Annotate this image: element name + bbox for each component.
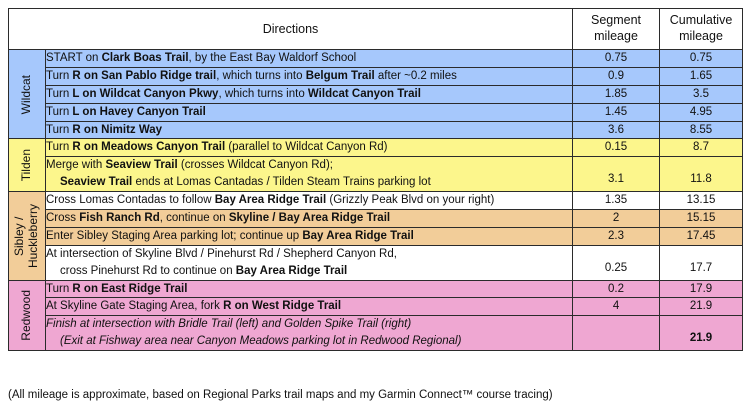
cumulative-mileage-value: 8.55	[690, 124, 712, 136]
direction-line: Merge with Seaview Trail (crosses Wildca…	[46, 157, 572, 174]
segment-mileage-cell: 1.85	[573, 85, 660, 103]
segment-mileage-value: 0.15	[605, 141, 627, 153]
segment-mileage-value: 2.3	[608, 230, 624, 242]
segment-mileage-cell: 2.3	[573, 227, 660, 245]
section-label-sibley-huckleberry: Sibley / Huckleberry	[9, 192, 46, 280]
cumulative-mileage-cell: 17.45	[660, 227, 743, 245]
table-row: Turn R on San Pablo Ridge trail, which t…	[9, 67, 743, 85]
direction-line: At intersection of Skyline Blvd / Pinehu…	[46, 246, 572, 263]
direction-cell: Turn L on Havey Canyon Trail	[46, 103, 573, 121]
segment-mileage-value: 2	[613, 212, 619, 224]
table-row: Turn R on Nimitz Way3.68.55	[9, 121, 743, 139]
direction-cell: Cross Lomas Contadas to follow Bay Area …	[46, 192, 573, 210]
cumulative-mileage-value: 8.7	[693, 141, 709, 153]
segment-mileage-value: 4	[613, 300, 619, 312]
table-row: Cross Fish Ranch Rd, continue on Skyline…	[9, 210, 743, 228]
segment-mileage-cell: 0.75	[573, 50, 660, 68]
segment-mileage-cell: 0.9	[573, 67, 660, 85]
route-directions-page: Directions Segment mileage Cumulative mi…	[0, 0, 750, 413]
cumulative-mileage-cell: 8.7	[660, 139, 743, 157]
cumulative-mileage-value: 1.65	[690, 70, 712, 82]
route-directions-table: Directions Segment mileage Cumulative mi…	[8, 8, 743, 351]
direction-cell: Turn R on East Ridge Trail	[46, 280, 573, 298]
segment-mileage-value: 1.35	[605, 194, 627, 206]
direction-line: Turn R on Meadows Canyon Trail (parallel…	[46, 139, 572, 156]
segment-mileage-cell: 4	[573, 298, 660, 316]
segment-mileage-value: 3.1	[608, 173, 624, 185]
direction-cell: Turn R on Meadows Canyon Trail (parallel…	[46, 139, 573, 157]
section-label-text: Wildcat	[20, 75, 34, 114]
cumulative-mileage-value: 0.75	[690, 52, 712, 64]
table-row: TildenTurn R on Meadows Canyon Trail (pa…	[9, 139, 743, 157]
table-row: Sibley / HuckleberryCross Lomas Contadas…	[9, 192, 743, 210]
direction-cell: Finish at intersection with Bridle Trail…	[46, 316, 573, 351]
direction-line: Turn R on San Pablo Ridge trail, which t…	[46, 68, 572, 85]
direction-line: At Skyline Gate Staging Area, fork R on …	[46, 298, 572, 315]
cumulative-mileage-value: 13.15	[687, 194, 716, 206]
cumulative-mileage-cell: 17.7	[660, 245, 743, 280]
direction-cell: At intersection of Skyline Blvd / Pinehu…	[46, 245, 573, 280]
direction-line: START on Clark Boas Trail, by the East B…	[46, 50, 572, 67]
cumulative-mileage-value: 11.8	[690, 173, 712, 185]
direction-line: Cross Fish Ranch Rd, continue on Skyline…	[46, 210, 572, 227]
cumulative-mileage-value: 21.9	[690, 300, 712, 312]
segment-mileage-value: 3.6	[608, 124, 624, 136]
table-header-row: Directions Segment mileage Cumulative mi…	[9, 9, 743, 50]
section-label-text: Tilden	[20, 149, 34, 181]
direction-cell: START on Clark Boas Trail, by the East B…	[46, 50, 573, 68]
direction-line: Turn L on Wildcat Canyon Pkwy, which tur…	[46, 86, 572, 103]
cumulative-mileage-value: 15.15	[687, 212, 716, 224]
table-row: RedwoodTurn R on East Ridge Trail0.217.9	[9, 280, 743, 298]
route-table-body: WildcatSTART on Clark Boas Trail, by the…	[9, 50, 743, 351]
cumulative-header-line2: mileage	[660, 29, 742, 45]
segment-mileage-cell: 3.1	[573, 157, 660, 192]
direction-cell: Turn R on Nimitz Way	[46, 121, 573, 139]
table-row: Turn L on Wildcat Canyon Pkwy, which tur…	[9, 85, 743, 103]
direction-line: Turn R on Nimitz Way	[46, 122, 572, 139]
cumulative-mileage-cell: 1.65	[660, 67, 743, 85]
direction-line: (Exit at Fishway area near Canyon Meadow…	[46, 333, 572, 350]
segment-mileage-cell: 0.15	[573, 139, 660, 157]
segment-mileage-cell: 1.35	[573, 192, 660, 210]
section-label-redwood: Redwood	[9, 280, 46, 351]
segment-mileage-value: 1.45	[605, 106, 627, 118]
direction-line: Seaview Trail ends at Lomas Cantadas / T…	[46, 174, 572, 191]
table-row: At Skyline Gate Staging Area, fork R on …	[9, 298, 743, 316]
cumulative-mileage-cell: 17.9	[660, 280, 743, 298]
segment-mileage-value: 0.9	[608, 70, 624, 82]
direction-cell: At Skyline Gate Staging Area, fork R on …	[46, 298, 573, 316]
column-header-cumulative-mileage: Cumulative mileage	[660, 9, 743, 50]
segment-mileage-value: 0.2	[608, 283, 624, 295]
segment-mileage-cell: 3.6	[573, 121, 660, 139]
segment-mileage-cell	[573, 316, 660, 351]
cumulative-mileage-value: 3.5	[693, 88, 709, 100]
direction-line: cross Pinehurst Rd to continue on Bay Ar…	[46, 263, 572, 280]
segment-header-line2: mileage	[573, 29, 659, 45]
cumulative-mileage-cell: 11.8	[660, 157, 743, 192]
segment-mileage-cell: 0.25	[573, 245, 660, 280]
direction-cell: Turn R on San Pablo Ridge trail, which t…	[46, 67, 573, 85]
segment-mileage-cell: 1.45	[573, 103, 660, 121]
direction-cell: Merge with Seaview Trail (crosses Wildca…	[46, 157, 573, 192]
direction-cell: Enter Sibley Staging Area parking lot; c…	[46, 227, 573, 245]
mileage-footnote: (All mileage is approximate, based on Re…	[8, 389, 553, 401]
direction-cell: Cross Fish Ranch Rd, continue on Skyline…	[46, 210, 573, 228]
cumulative-mileage-value: 17.9	[690, 283, 712, 295]
direction-line: Cross Lomas Contadas to follow Bay Area …	[46, 192, 572, 209]
cumulative-mileage-value: 21.9	[690, 332, 712, 344]
cumulative-mileage-cell: 21.9	[660, 316, 743, 351]
table-row: At intersection of Skyline Blvd / Pinehu…	[9, 245, 743, 280]
cumulative-mileage-cell: 8.55	[660, 121, 743, 139]
segment-header-line1: Segment	[573, 13, 659, 29]
column-header-segment-mileage: Segment mileage	[573, 9, 660, 50]
direction-line: Turn R on East Ridge Trail	[46, 281, 572, 298]
section-label-text: Redwood	[20, 290, 34, 341]
section-label-tilden: Tilden	[9, 139, 46, 192]
table-row: Enter Sibley Staging Area parking lot; c…	[9, 227, 743, 245]
section-label-wildcat: Wildcat	[9, 50, 46, 139]
table-row: WildcatSTART on Clark Boas Trail, by the…	[9, 50, 743, 68]
segment-mileage-value: 0.75	[605, 52, 627, 64]
table-row: Finish at intersection with Bridle Trail…	[9, 316, 743, 351]
cumulative-mileage-cell: 13.15	[660, 192, 743, 210]
direction-line: Finish at intersection with Bridle Trail…	[46, 316, 572, 333]
direction-line: Turn L on Havey Canyon Trail	[46, 104, 572, 121]
direction-line: Enter Sibley Staging Area parking lot; c…	[46, 228, 572, 245]
segment-mileage-value: 1.85	[605, 88, 627, 100]
section-label-text: Sibley / Huckleberry	[13, 204, 41, 268]
direction-cell: Turn L on Wildcat Canyon Pkwy, which tur…	[46, 85, 573, 103]
cumulative-header-line1: Cumulative	[660, 13, 742, 29]
table-row: Merge with Seaview Trail (crosses Wildca…	[9, 157, 743, 192]
cumulative-mileage-cell: 15.15	[660, 210, 743, 228]
cumulative-mileage-cell: 0.75	[660, 50, 743, 68]
cumulative-mileage-value: 4.95	[690, 106, 712, 118]
segment-mileage-cell: 0.2	[573, 280, 660, 298]
cumulative-mileage-cell: 3.5	[660, 85, 743, 103]
cumulative-mileage-cell: 21.9	[660, 298, 743, 316]
table-row: Turn L on Havey Canyon Trail1.454.95	[9, 103, 743, 121]
segment-mileage-value: 0.25	[605, 262, 627, 274]
segment-mileage-cell: 2	[573, 210, 660, 228]
cumulative-mileage-value: 17.7	[690, 262, 712, 274]
cumulative-mileage-value: 17.45	[687, 230, 716, 242]
cumulative-mileage-cell: 4.95	[660, 103, 743, 121]
column-header-directions: Directions	[9, 9, 573, 50]
